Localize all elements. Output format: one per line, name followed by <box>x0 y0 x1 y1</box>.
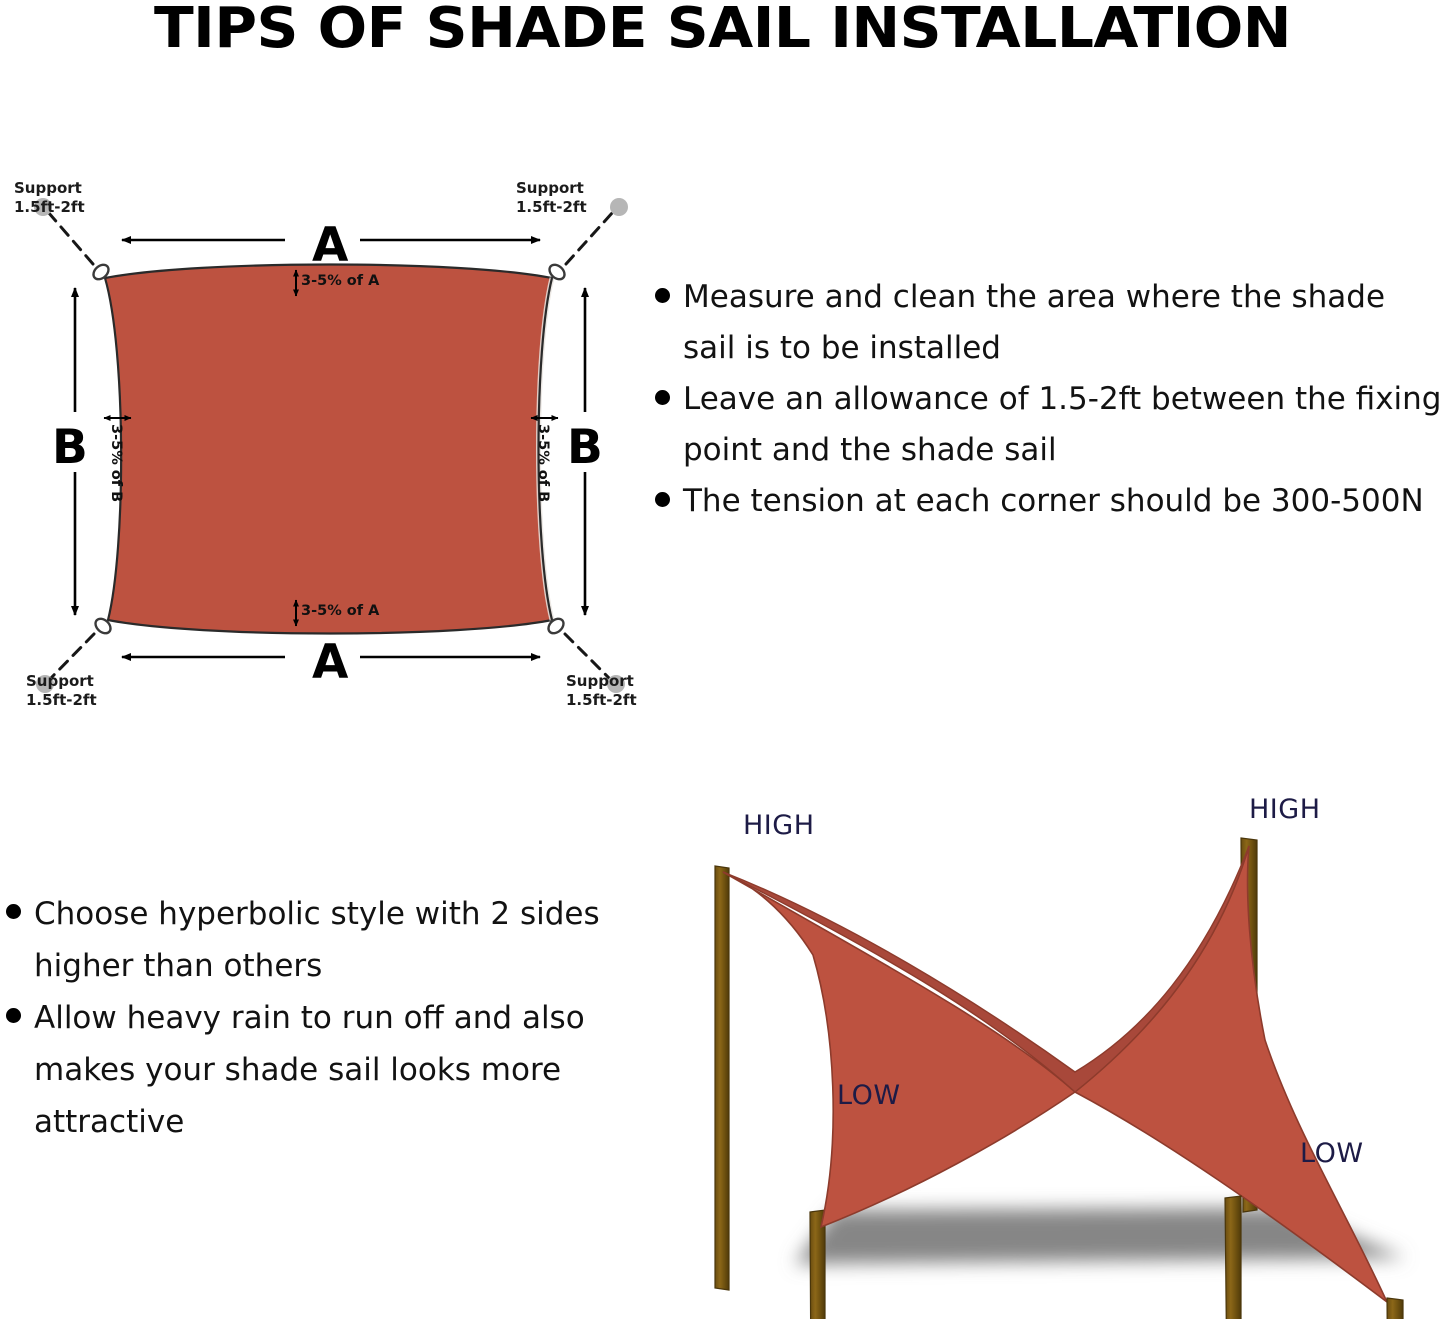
support-label-bottom-left-line2: 1.5ft-2ft <box>26 691 97 710</box>
support-label-top-left-line2: 1.5ft-2ft <box>14 198 85 217</box>
bullet-dot-icon <box>655 288 670 303</box>
sail-lobe-left <box>723 872 1075 1227</box>
list-item: Leave an allowance of 1.5-2ft between th… <box>655 374 1445 476</box>
dimension-letter-B-left: B <box>52 424 88 471</box>
list-item: The tension at each corner should be 300… <box>655 476 1445 527</box>
sail-fabric-path <box>105 265 552 634</box>
post-low-right <box>1387 1298 1403 1319</box>
label-low-right: LOW <box>1300 1138 1364 1169</box>
support-label-top-left: Support 1.5ft-2ft <box>14 179 85 217</box>
support-label-bottom-right-line1: Support <box>566 672 637 691</box>
tip-text: Allow heavy rain to run off and also mak… <box>34 992 626 1148</box>
curvature-label-right: 3-5% of B <box>535 424 551 502</box>
rope-top-right <box>566 212 613 264</box>
support-label-top-left-line1: Support <box>14 179 85 198</box>
tips-list-left: Choose hyperbolic style with 2 sides hig… <box>6 888 626 1148</box>
dimension-letter-B-right: B <box>567 424 603 471</box>
support-label-bottom-right-line2: 1.5ft-2ft <box>566 691 637 710</box>
label-low-left: LOW <box>837 1080 901 1111</box>
list-item: Choose hyperbolic style with 2 sides hig… <box>6 888 626 992</box>
rope-top-left <box>48 212 93 264</box>
support-label-bottom-left: Support 1.5ft-2ft <box>26 672 97 710</box>
post-low-right-mid <box>1225 1196 1241 1319</box>
label-high-left: HIGH <box>743 810 815 841</box>
sail-fabric-shape <box>105 265 552 634</box>
post-high-left <box>715 866 729 1290</box>
support-label-top-right: Support 1.5ft-2ft <box>516 179 587 217</box>
label-high-right: HIGH <box>1249 794 1321 825</box>
tip-text: The tension at each corner should be 300… <box>683 476 1424 527</box>
bullet-dot-icon <box>655 390 670 405</box>
tip-text: Leave an allowance of 1.5-2ft between th… <box>683 374 1445 476</box>
bullet-dot-icon <box>6 1008 21 1023</box>
bullet-dot-icon <box>6 904 21 919</box>
support-label-top-right-line1: Support <box>516 179 587 198</box>
curvature-label-bottom: 3-5% of A <box>301 603 379 619</box>
list-item: Allow heavy rain to run off and also mak… <box>6 992 626 1148</box>
dimension-letter-A-top: A <box>312 222 348 269</box>
list-item: Measure and clean the area where the sha… <box>655 272 1445 374</box>
curvature-label-left: 3-5% of B <box>108 424 124 502</box>
sail-dimension-diagram: A A B B 3-5% of A 3-5% of A 3-5% of B 3-… <box>0 160 660 730</box>
hyperbolic-illustration-svg <box>645 780 1445 1319</box>
support-label-bottom-left-line1: Support <box>26 672 97 691</box>
tip-text: Measure and clean the area where the sha… <box>683 272 1445 374</box>
anchor-dot-top-right <box>610 198 628 216</box>
support-label-top-right-line2: 1.5ft-2ft <box>516 198 587 217</box>
infographic-page: TIPS OF SHADE SAIL INSTALLATION <box>0 0 1445 1319</box>
support-label-bottom-right: Support 1.5ft-2ft <box>566 672 637 710</box>
tip-text: Choose hyperbolic style with 2 sides hig… <box>34 888 626 992</box>
hyperbolic-sail-illustration: HIGH HIGH LOW LOW <box>645 780 1445 1319</box>
bullet-dot-icon <box>655 492 670 507</box>
page-title: TIPS OF SHADE SAIL INSTALLATION <box>0 0 1445 58</box>
dimension-letter-A-bottom: A <box>312 639 348 686</box>
tips-list-right: Measure and clean the area where the sha… <box>655 272 1445 527</box>
curvature-label-top: 3-5% of A <box>301 273 379 289</box>
